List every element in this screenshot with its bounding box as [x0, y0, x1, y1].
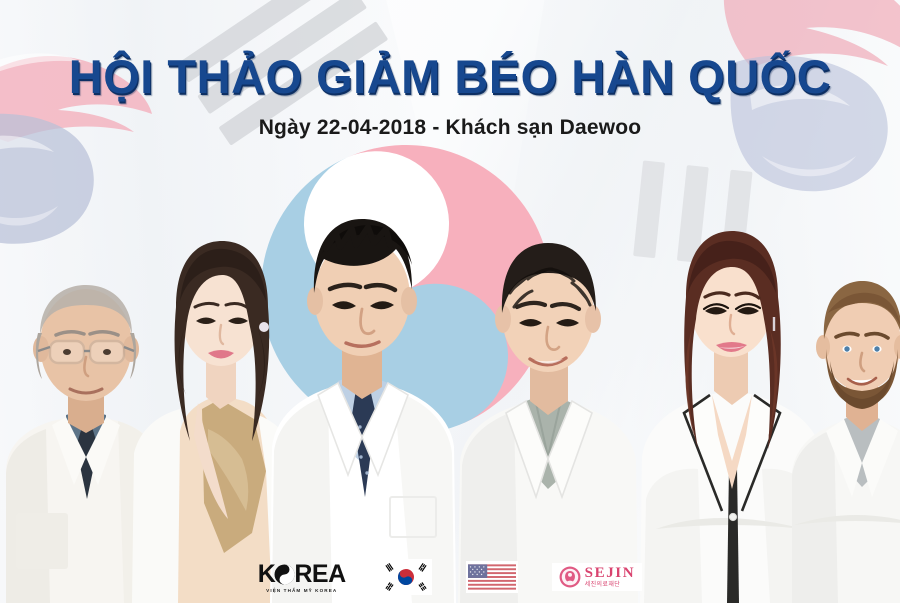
korea-word-after: REA	[294, 562, 345, 587]
flag-south-korea-icon	[382, 561, 430, 593]
person-western-bearded-man	[792, 257, 900, 603]
sejin-logo[interactable]: SEJIN 세진의료재단	[552, 563, 643, 591]
sejin-emblem-icon	[559, 566, 581, 588]
person-asian-male-doctor-collar	[452, 203, 644, 603]
south-korea-flag[interactable]	[380, 559, 432, 595]
event-subtitle: Ngày 22-04-2018 - Khách sạn Daewoo	[0, 116, 900, 140]
korea-wordmark: K REA	[258, 562, 346, 587]
flag-usa-icon	[468, 563, 516, 591]
sejin-subtitle: 세진의료재단	[585, 582, 636, 588]
person-asian-male-doctor-tie	[262, 175, 462, 603]
event-banner: HỘI THẢO GIẢM BÉO HÀN QUỐC Ngày 22-04-20…	[0, 0, 900, 603]
korea-word-before: K	[258, 562, 276, 587]
taegeuk-icon	[274, 564, 295, 585]
presenter-group	[0, 183, 900, 603]
korea-tagline: VIỆN THẨM MỸ KOREA	[266, 588, 337, 593]
page-title: HỘI THẢO GIẢM BÉO HÀN QUỐC	[0, 52, 900, 102]
sejin-brand: SEJIN	[585, 566, 636, 581]
headline-block: HỘI THẢO GIẢM BÉO HÀN QUỐC Ngày 22-04-20…	[0, 52, 900, 140]
partner-logo-strip: K REA VIỆN THẨM MỸ KOREA	[0, 559, 900, 595]
korea-logo[interactable]: K REA VIỆN THẨM MỸ KOREA	[258, 562, 346, 593]
usa-flag[interactable]	[466, 561, 518, 593]
